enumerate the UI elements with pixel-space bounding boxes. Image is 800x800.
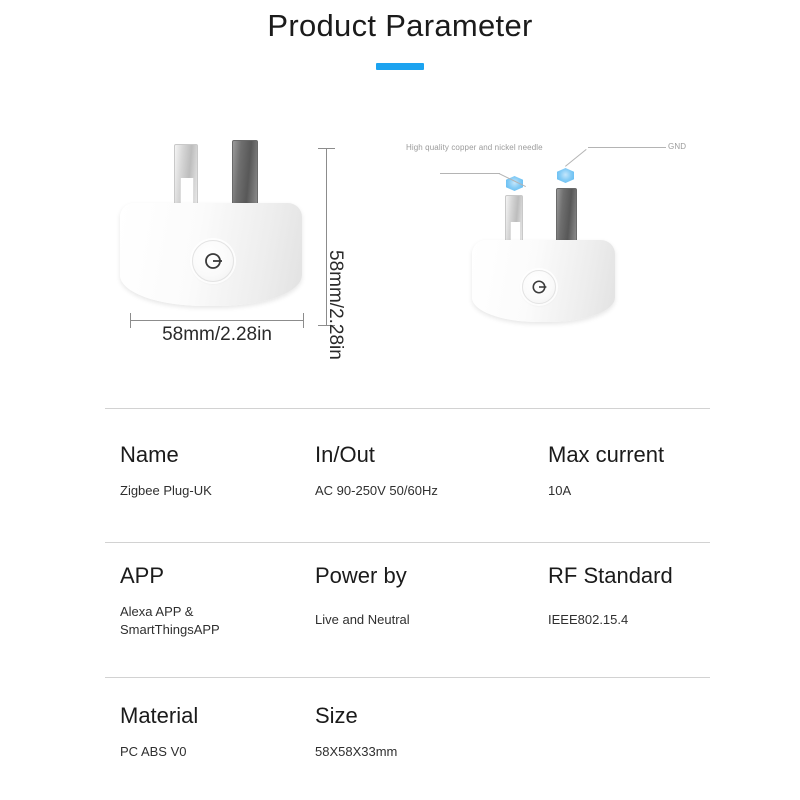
spec-cell-app: APP Alexa APP & SmartThingsAPP <box>120 563 220 639</box>
callout-gnd-label: GND <box>668 142 686 151</box>
title-accent-bar <box>376 63 424 70</box>
power-button[interactable] <box>192 240 234 282</box>
spec-value: Zigbee Plug-UK <box>120 482 212 500</box>
power-icon <box>202 250 224 272</box>
spec-label: RF Standard <box>548 563 673 589</box>
spec-cell-max-current: Max current 10A <box>548 442 664 500</box>
spec-value: 58X58X33mm <box>315 743 397 761</box>
dimension-width-label: 58mm/2.28in <box>130 324 304 346</box>
dimension-height-label: 58mm/2.28in <box>324 250 346 430</box>
spec-label: Max current <box>548 442 664 468</box>
spec-label: Material <box>120 703 198 729</box>
callout-gnd-leader-horizontal <box>588 147 666 148</box>
spec-cell-rf-standard: RF Standard IEEE802.15.4 <box>548 563 673 629</box>
product-figure: 58mm/2.28in 58mm/2.28in High quality cop… <box>0 100 800 390</box>
table-divider-bottom <box>105 677 710 678</box>
spec-cell-power-by: Power by Live and Neutral <box>315 563 410 629</box>
table-divider-middle <box>105 542 710 543</box>
spec-value: IEEE802.15.4 <box>548 611 673 629</box>
table-divider-top <box>105 408 710 409</box>
power-button-detail[interactable] <box>522 270 556 304</box>
callout-leader-horizontal <box>440 173 500 174</box>
spec-cell-in-out: In/Out AC 90-250V 50/60Hz <box>315 442 438 500</box>
hex-dot-marker-gnd <box>557 168 574 183</box>
spec-label: Name <box>120 442 212 468</box>
neutral-pin-detail <box>556 188 577 246</box>
spec-label: APP <box>120 563 220 589</box>
spec-cell-size: Size 58X58X33mm <box>315 703 397 761</box>
callout-gnd-leader-diagonal <box>565 149 587 167</box>
spec-cell-material: Material PC ABS V0 <box>120 703 198 761</box>
spec-cell-name: Name Zigbee Plug-UK <box>120 442 212 500</box>
spec-label: Size <box>315 703 397 729</box>
page-title: Product Parameter <box>0 8 800 44</box>
spec-value: Live and Neutral <box>315 611 410 629</box>
dimension-height-cap-top <box>318 148 335 149</box>
spec-value: PC ABS V0 <box>120 743 198 761</box>
spec-value: 10A <box>548 482 664 500</box>
spec-value: Alexa APP & SmartThingsAPP <box>120 603 220 639</box>
neutral-pin <box>232 140 258 210</box>
callout-copper-nickel-label: High quality copper and nickel needle <box>406 143 543 152</box>
power-icon <box>530 278 548 296</box>
dimension-width-line <box>130 320 304 321</box>
spec-value: AC 90-250V 50/60Hz <box>315 482 438 500</box>
spec-label: Power by <box>315 563 410 589</box>
spec-label: In/Out <box>315 442 438 468</box>
